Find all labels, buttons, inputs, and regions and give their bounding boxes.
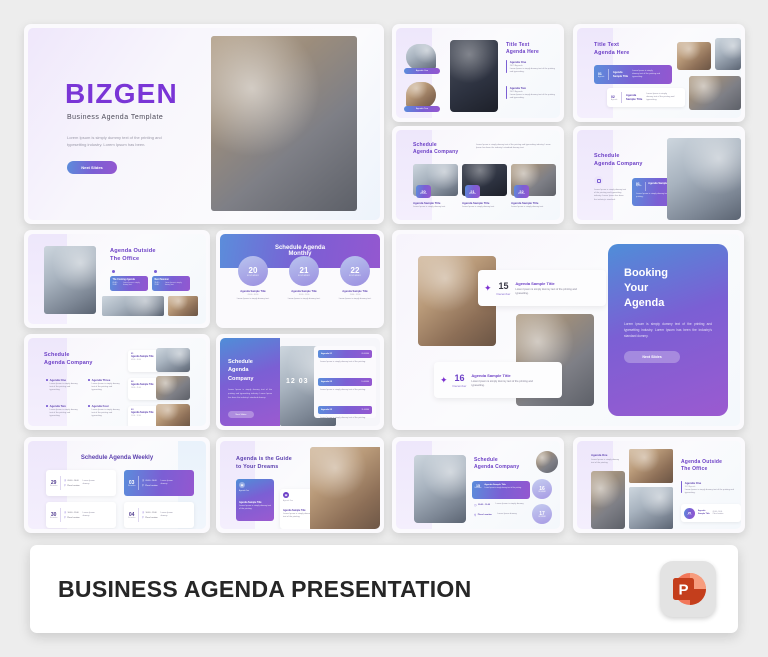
date-circle: 25 November — [684, 508, 695, 519]
clock-icon: ◷ — [64, 479, 66, 482]
monthly-circle-item[interactable]: 22 NOVEMBER Agenda Sample Title 11:00 - … — [332, 256, 378, 301]
hero-body: Lorem Ipsum is simply dummy text of the … — [67, 134, 182, 148]
slide-title-text-agenda-here-a[interactable]: Agenda One Agenda Two Title Text Agenda … — [392, 24, 564, 122]
page-title: BUSINESS AGENDA PRESENTATION — [58, 576, 472, 603]
monthly-circle-item[interactable]: 21 NOVEMBER Agenda Sample Title 10:00 - … — [281, 256, 327, 301]
pin-icon: ⚲ — [142, 516, 144, 519]
thumb-image-3 — [629, 487, 673, 529]
schedule-card[interactable]: 22 November Agenda Sample Title Lorem Ip… — [511, 164, 556, 209]
hero-next-slides-button[interactable]: Next Slides — [67, 161, 117, 174]
slide-schedule-agenda-company-cards[interactable]: Schedule Agenda Company Lorem Ipsum is s… — [392, 126, 564, 224]
slide-title: Title Text Agenda Here — [506, 42, 539, 56]
round-thumb — [536, 451, 558, 473]
booking-panel-title: Booking Your Agenda — [624, 266, 712, 311]
thumb-image-3 — [689, 76, 741, 110]
slide-title: Agenda Outside The Office — [681, 459, 722, 474]
main-image — [667, 138, 741, 220]
star-icon: ✦ — [440, 376, 448, 385]
weekly-card[interactable]: 30 November ◷10:00 - 11:00 ⚲Place Locati… — [46, 502, 116, 528]
schedule-card[interactable]: 20 November Agenda Sample Title Lorem Ip… — [413, 164, 458, 209]
date-badge: 20 November — [416, 185, 431, 198]
booking-next-slides-button[interactable]: Next Slides — [624, 351, 680, 363]
thumb-image-2 — [168, 296, 198, 316]
hero-image — [211, 36, 357, 211]
slide-schedule-agenda-company-single[interactable]: Schedule Agenda Company Lorem Ipsum is s… — [573, 126, 745, 224]
thumb-image-2 — [715, 38, 741, 70]
main-image — [450, 40, 498, 112]
clock-icon: ◷ — [474, 503, 477, 507]
thumb-image-2 — [406, 82, 436, 108]
list-item[interactable]: Agenda Four Lorem Ipsum is simply dummy … — [88, 404, 122, 419]
pin-icon: ⚲ — [64, 516, 66, 519]
list-item[interactable]: Agenda One 2021 Agenda Lorem Ipsum is si… — [506, 60, 558, 74]
chip-coming-agenda[interactable]: The Coming Agenda 09:00 - 10:00 Lorem Ip… — [110, 276, 148, 291]
slide-title: Schedule Agenda Company — [44, 352, 93, 368]
svg-text:P: P — [678, 582, 688, 599]
main-image — [44, 246, 96, 314]
slide-title: Schedule Agenda Weekly — [28, 455, 206, 461]
chip-agenda-two[interactable]: Agenda Two — [404, 106, 440, 112]
slide-schedule-agenda-company-list[interactable]: Schedule Agenda Company Agenda One Lorem… — [24, 334, 210, 430]
clock-icon: ◷ — [142, 479, 144, 482]
thumb-image — [102, 296, 164, 316]
slide-title: Title Text Agenda Here — [594, 42, 629, 57]
chip-next-session[interactable]: Next Session 11:00 - 12:00 Lorem Ipsum i… — [152, 276, 190, 291]
calendar-icon: ▣ — [239, 482, 245, 488]
agenda-row-header[interactable]: Agenda 03 11:00 AM — [318, 406, 372, 414]
slide-hero-bizgen[interactable]: BIZGEN Business Agenda Template Lorem Ip… — [24, 24, 384, 224]
pin-icon: ⚲ — [474, 513, 476, 517]
monthly-circle-item[interactable]: 20 NOVEMBER Agenda Sample Title 09:00 - … — [230, 256, 276, 301]
thumb-image — [406, 44, 436, 70]
slide-agenda-outside-the-office-b[interactable]: Agenda One Lorem Ipsum is simply dummy t… — [573, 437, 745, 533]
agenda-row-header[interactable]: Agenda 02 10:00 AM — [318, 378, 372, 386]
agenda-row-01[interactable]: 01 Agenda Agenda Sample Title Lorem Ipsu… — [594, 65, 672, 84]
list-item[interactable]: Agenda One Lorem Ipsum is simply dummy t… — [46, 378, 80, 393]
powerpoint-icon[interactable]: P — [660, 561, 716, 617]
slide-title: Schedule Agenda Company — [474, 457, 519, 472]
calendar-icon — [594, 176, 603, 185]
hero-subtitle: Business Agenda Template — [67, 114, 163, 121]
main-image — [310, 447, 380, 529]
meta-place: ⚲ Place Location Lorem Ipsum dummy — [474, 513, 517, 517]
guide-card-highlight[interactable]: ▣ Agenda One Agenda Sample Title Lorem I… — [236, 479, 274, 521]
clock-readout: 12 03 — [286, 378, 309, 385]
powerpoint-glyph: P — [660, 561, 716, 617]
slide-title: Schedule Agenda Company — [594, 153, 643, 169]
hero-title: BIZGEN — [65, 78, 178, 110]
weekly-card-highlight[interactable]: 03 December ◷09:00 - 10:00 ⚲Place Locati… — [124, 470, 194, 496]
slide-title: Agenda Outside The Office — [110, 248, 156, 264]
date-circle: 20 NOVEMBER — [238, 256, 268, 286]
star-icon: ✦ — [484, 284, 492, 293]
slide-title: Agenda is the Guide to Your Dreams — [236, 455, 292, 471]
slide-body: Lorem Ipsum is simply dummy text of the … — [594, 189, 626, 202]
thumb-image-2 — [629, 449, 673, 483]
booking-card-16[interactable]: ✦ 16 December Agenda Sample Title Lorem … — [434, 362, 562, 398]
main-image — [414, 455, 466, 523]
agenda-row-02[interactable]: 02 Agenda Agenda Sample Title Lorem Ipsu… — [607, 88, 685, 107]
slide-agenda-outside-the-office-a[interactable]: Agenda Outside The Office The Coming Age… — [24, 230, 210, 328]
date-circle-17[interactable]: 17 DECEMBER — [532, 504, 552, 524]
clock-icon: ◷ — [142, 511, 144, 514]
booking-panel-body: Lorem Ipsum is simply dummy text of the … — [624, 321, 712, 339]
meta-time: ◷ 09:00 - 10:00 Lorem Ipsum is simply du… — [474, 503, 524, 507]
slide-schedule-agenda-company-circles[interactable]: Schedule Agenda Company 15 December Agen… — [392, 437, 564, 533]
agenda-row-header[interactable]: Agenda 01 09:00 AM — [318, 350, 372, 358]
booking-card-15[interactable]: ✦ 15 December Agenda Sample Title Lorem … — [478, 270, 606, 306]
pin-icon: ⚲ — [142, 484, 144, 487]
schedule-card[interactable]: 21 November Agenda Sample Title Lorem Ip… — [462, 164, 507, 209]
weekly-card[interactable]: 29 November ◷09:00 - 10:00 ⚲Place Locati… — [46, 470, 116, 496]
bottom-banner: BUSINESS AGENDA PRESENTATION P — [30, 545, 738, 633]
clock-icon: ◷ — [64, 511, 66, 514]
list-item[interactable]: Agenda Three Lorem Ipsum is simply dummy… — [88, 378, 122, 393]
date-badge: 22 November — [514, 185, 529, 198]
thumb-image — [591, 471, 625, 529]
slide-booking-your-agenda[interactable]: ✦ 15 December Agenda Sample Title Lorem … — [392, 230, 744, 430]
slide-title: Schedule Agenda Company — [413, 142, 458, 156]
list-item[interactable]: Agenda Two Lorem Ipsum is simply dummy t… — [46, 404, 80, 419]
chip-agenda-one[interactable]: Agenda One — [404, 68, 440, 74]
date-circle: 22 NOVEMBER — [340, 256, 370, 286]
badge-card[interactable]: 25 November Agenda Sample Title 09:00 - … — [681, 504, 741, 522]
weekly-card[interactable]: 04 December ◷10:00 - 11:00 ⚲Place Locati… — [124, 502, 194, 528]
banner-card[interactable]: 15 December Agenda Sample Title Lorem Ip… — [472, 481, 530, 499]
next-slides-button[interactable]: Next Slides — [228, 411, 254, 418]
pin-icon: ⚲ — [64, 484, 66, 487]
thumb-image — [677, 42, 711, 70]
booking-panel: Booking Your Agenda Lorem Ipsum is simpl… — [608, 244, 728, 416]
slide-schedule-agenda-company-clock[interactable]: Schedule Agenda Company Lorem Ipsum is s… — [216, 334, 384, 430]
date-badge: 21 November — [465, 185, 480, 198]
slide-schedule-agenda-weekly[interactable]: Schedule Agenda Weekly 29 November ◷09:0… — [24, 437, 210, 533]
date-circle: 21 NOVEMBER — [289, 256, 319, 286]
clock-panel: Schedule Agenda Company Lorem Ipsum is s… — [220, 338, 280, 426]
list-item[interactable]: Agenda One 2021 Agenda Lorem Ipsum is si… — [681, 481, 735, 495]
slide-body: Lorem Ipsum is simply dummy text of the … — [476, 144, 552, 150]
slide-board: BIZGEN Business Agenda Template Lorem Ip… — [0, 0, 768, 657]
slide-agenda-is-the-guide[interactable]: Agenda is the Guide to Your Dreams ▣ Age… — [216, 437, 384, 533]
slide-schedule-agenda-monthly[interactable]: Schedule Agenda Monthly 20 NOVEMBER Agen… — [216, 230, 384, 328]
slide-title-text-agenda-here-b[interactable]: Title Text Agenda Here 01 Agenda Agenda … — [573, 24, 745, 122]
date-circle-16[interactable]: 16 DECEMBER — [532, 479, 552, 499]
slide-title: Schedule Agenda Company — [228, 358, 272, 383]
list-item[interactable]: Agenda Two 2021 Agenda Lorem Ipsum is si… — [506, 86, 558, 100]
calendar-icon: ▣ — [283, 492, 289, 498]
